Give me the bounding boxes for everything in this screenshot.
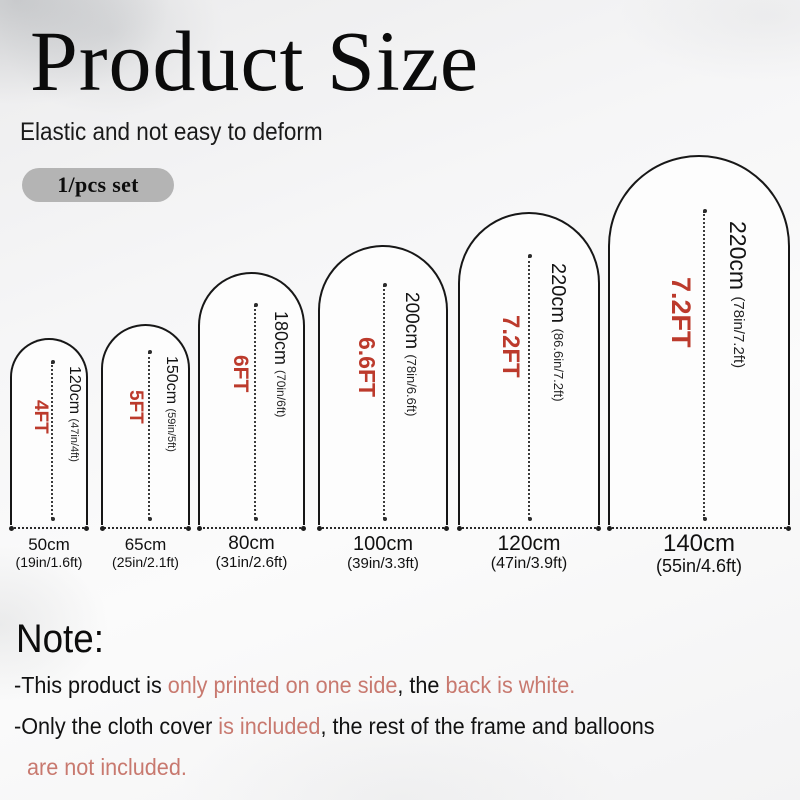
dimension-endpoint-dot [148, 350, 152, 354]
dimension-endpoint-dot [528, 517, 532, 521]
dimension-endpoint-dot [9, 526, 14, 531]
dimension-endpoint-dot [254, 517, 258, 521]
arch-size-4: 200cm (78in/6.6ft)6.6FT [318, 245, 448, 525]
arch-height-cm: 220cm [547, 263, 569, 323]
note-2-text-a: -Only the cloth cover [14, 713, 218, 739]
arch-size-6: 220cm (78in/7.2ft)7.2FT [608, 155, 790, 525]
note-heading: Note: [16, 617, 104, 662]
dimension-endpoint-dot [254, 303, 258, 307]
dimension-endpoint-dot [703, 517, 707, 521]
note-line-3: are not included. [27, 754, 187, 782]
arch-width-cm: 140cm [590, 531, 800, 556]
width-dimension-line [318, 527, 448, 529]
note-1-text-c: , the [397, 672, 445, 698]
arch-height-alt: (59in/5ft) [165, 408, 177, 451]
arch-ft-label: 5FT [124, 390, 146, 424]
arch-height-cm: 200cm [401, 292, 422, 349]
dimension-endpoint-dot [100, 526, 105, 531]
dimension-endpoint-dot [186, 526, 191, 531]
height-dimension-line [254, 305, 256, 519]
arch-height-label: 120cm (47in/4ft) [65, 366, 83, 462]
arch-ft-label: 7.2FT [496, 315, 524, 378]
arch-ft-label: 6FT [228, 355, 252, 392]
arch-ft-label: 7.2FT [665, 277, 696, 348]
arch-ft-label: 6.6FT [353, 337, 380, 397]
arch-height-label: 180cm (70in/6ft) [270, 311, 291, 417]
arch-ft-label: 4FT [29, 400, 51, 434]
height-dimension-line [528, 256, 530, 519]
height-dimension-line [148, 352, 150, 519]
dimension-endpoint-dot [197, 526, 202, 531]
width-dimension-line [458, 527, 600, 529]
dimension-endpoint-dot [528, 254, 532, 258]
note-2-text-c: , the rest of the frame and balloons [320, 713, 654, 739]
width-dimension-line [198, 527, 305, 529]
height-dimension-line [383, 285, 385, 519]
dimension-endpoint-dot [317, 526, 322, 531]
arch-outline [608, 155, 790, 525]
width-dimension-line [608, 527, 790, 529]
note-line-1: -This product is only printed on one sid… [14, 672, 575, 700]
arch-height-alt: (78in/7.2ft) [730, 296, 747, 368]
arch-width-caption: 140cm(55in/4.6ft) [590, 531, 800, 577]
width-dimension-line [101, 527, 190, 529]
dimension-endpoint-dot [51, 517, 55, 521]
height-dimension-line [51, 362, 53, 519]
dimension-endpoint-dot [383, 517, 387, 521]
product-size-infographic: Product Size Elastic and not easy to def… [0, 0, 800, 800]
arch-size-2: 150cm (59in/5ft)5FT [101, 324, 190, 525]
arch-height-alt: (86.6in/7.2ft) [551, 329, 566, 402]
arch-height-cm: 220cm [725, 221, 751, 290]
width-dimension-line [10, 527, 88, 529]
dimension-endpoint-dot [301, 526, 306, 531]
note-1-text-b: only printed on one side [168, 672, 398, 698]
arch-height-cm: 180cm [271, 311, 291, 365]
note-1-text-a: -This product is [14, 672, 168, 698]
note-3-text-b: are not included. [27, 754, 187, 780]
arch-height-alt: (47in/4ft) [68, 418, 80, 461]
arch-height-cm: 120cm [66, 366, 83, 414]
arch-height-label: 200cm (78in/6.6ft) [400, 292, 422, 416]
arch-size-5: 220cm (86.6in/7.2ft)7.2FT [458, 212, 600, 525]
arch-size-1: 120cm (47in/4ft)4FT [10, 338, 88, 525]
note-2-text-b: is included [218, 713, 320, 739]
arch-height-cm: 150cm [163, 356, 180, 404]
height-dimension-line [703, 211, 705, 519]
arch-size-3: 180cm (70in/6ft)6FT [198, 272, 305, 525]
note-1-text-d: back is white. [445, 672, 575, 698]
arch-width-alt: (55in/4.6ft) [590, 556, 800, 577]
dimension-endpoint-dot [51, 360, 55, 364]
note-line-2: -Only the cloth cover is included, the r… [14, 713, 655, 741]
arch-height-label: 220cm (78in/7.2ft) [724, 221, 751, 368]
arch-height-alt: (78in/6.6ft) [404, 354, 419, 416]
dimension-endpoint-dot [84, 526, 89, 531]
arch-height-alt: (70in/6ft) [274, 370, 288, 417]
arch-height-label: 150cm (59in/5ft) [162, 356, 180, 452]
dimension-endpoint-dot [457, 526, 462, 531]
dimension-endpoint-dot [148, 517, 152, 521]
dimension-endpoint-dot [383, 283, 387, 287]
arch-height-label: 220cm (86.6in/7.2ft) [546, 263, 569, 402]
dimension-endpoint-dot [444, 526, 449, 531]
dimension-endpoint-dot [703, 209, 707, 213]
